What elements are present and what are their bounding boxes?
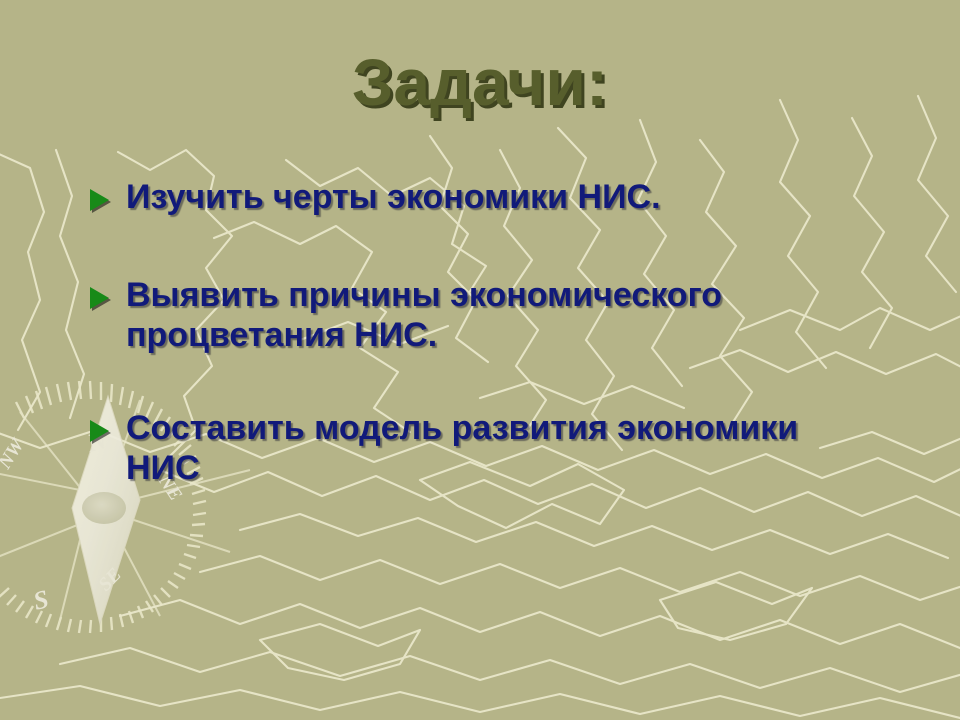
presentation-slide: N NW NE S SE Задачи: Изучить черты эконо… — [0, 0, 960, 720]
green-triangle-bullet-icon — [90, 287, 109, 309]
list-item: Составить модель развития экономики НИС — [88, 409, 806, 489]
page-title: Задачи: — [0, 48, 960, 117]
list-item-label: Составить модель развития экономики НИС — [126, 409, 806, 489]
bullet-list: Изучить черты экономики НИС. Выявить при… — [88, 178, 918, 489]
list-item-label: Выявить причины экономического процветан… — [126, 276, 826, 356]
list-item-label: Изучить черты экономики НИС. — [126, 178, 918, 218]
list-item: Изучить черты экономики НИС. — [88, 178, 918, 218]
list-item: Выявить причины экономического процветан… — [88, 276, 826, 356]
green-triangle-bullet-icon — [90, 189, 109, 211]
green-triangle-bullet-icon — [90, 420, 109, 442]
